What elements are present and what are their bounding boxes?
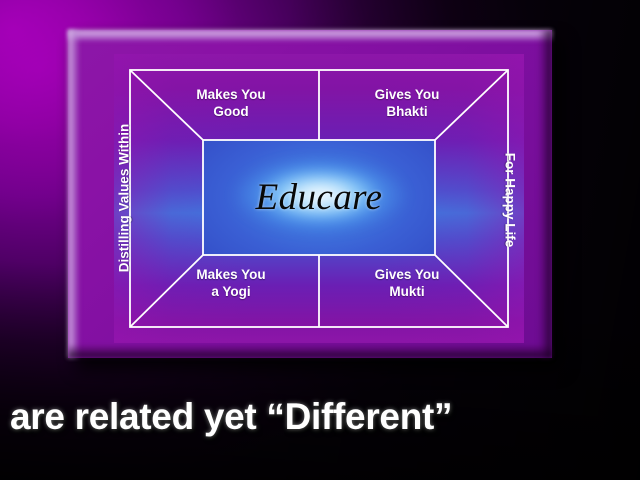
side-label-left: Distilling Values Within bbox=[117, 124, 132, 272]
center-title: Educare bbox=[203, 140, 435, 255]
slide-canvas: Educare Makes You Good Gives You Bhakti … bbox=[0, 0, 640, 480]
quadrant-label-bottom-left: Makes You a Yogi bbox=[166, 266, 296, 300]
quadrant-label-top-left: Makes You Good bbox=[166, 86, 296, 120]
quadrant-label-bottom-right: Gives You Mukti bbox=[342, 266, 472, 300]
plaque-bevel-right bbox=[538, 30, 552, 358]
plaque-bevel-bottom bbox=[68, 344, 552, 358]
plaque-bevel-left bbox=[68, 30, 80, 358]
slide-caption: are related yet “Different” bbox=[10, 396, 452, 438]
perspective-box-diagram: Educare Makes You Good Gives You Bhakti … bbox=[120, 60, 518, 337]
side-label-right: For Happy Life bbox=[503, 153, 518, 248]
plaque-bevel-top bbox=[68, 30, 552, 42]
diagram-plaque: Educare Makes You Good Gives You Bhakti … bbox=[68, 30, 552, 358]
quadrant-label-top-right: Gives You Bhakti bbox=[342, 86, 472, 120]
